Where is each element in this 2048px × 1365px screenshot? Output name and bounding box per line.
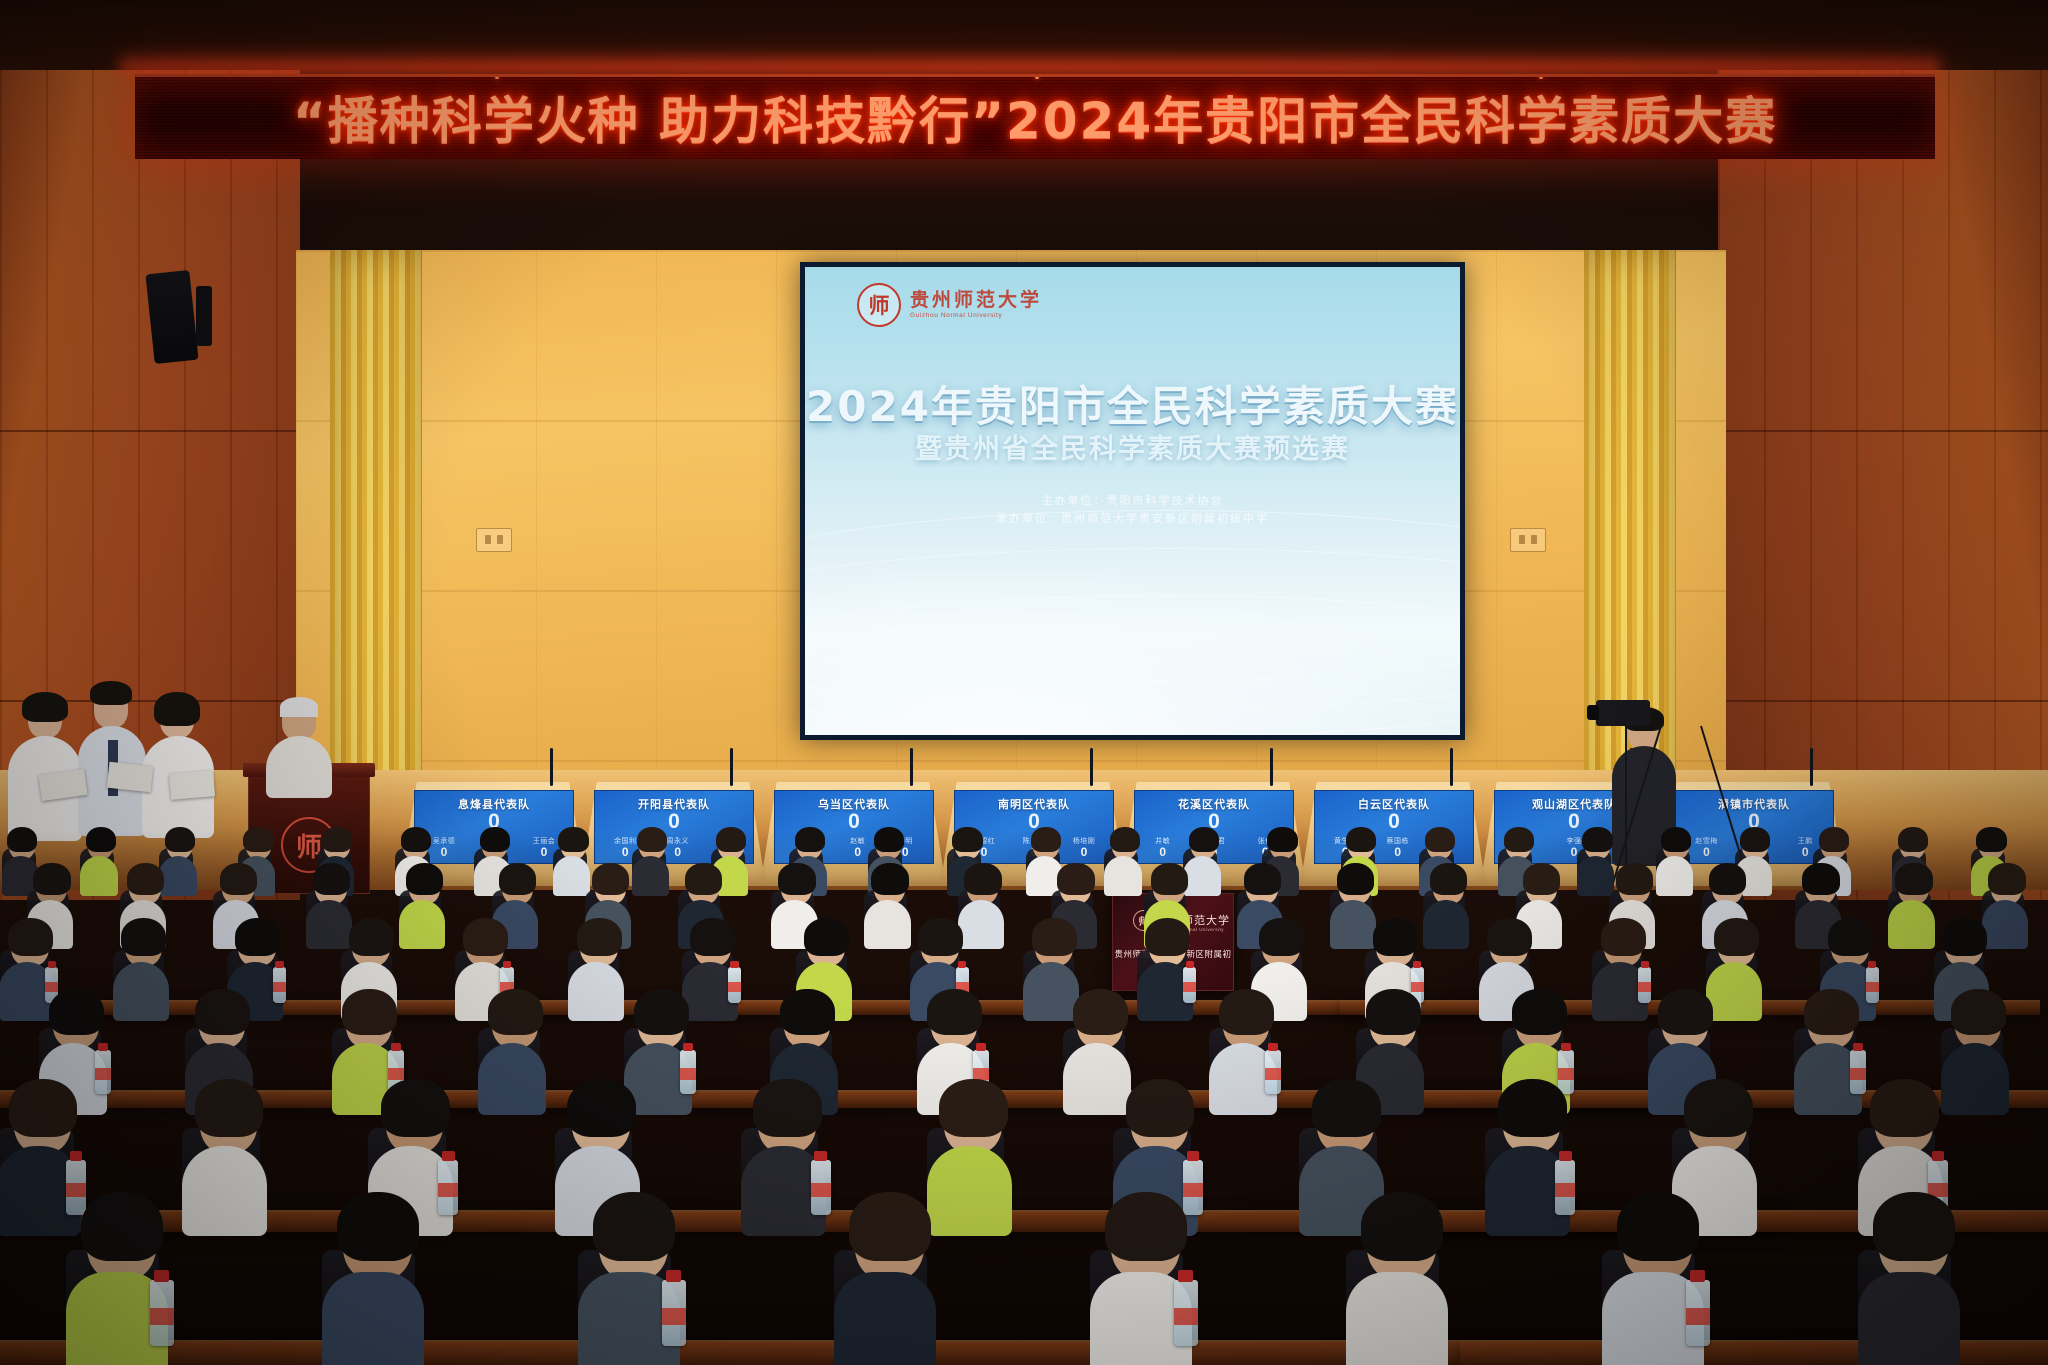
water-bottle <box>1174 1280 1198 1346</box>
water-bottle <box>1265 1050 1281 1094</box>
projection-screen: 师 贵州师范大学 Guizhou Normal University 2024年… <box>800 262 1465 740</box>
microphone-icon <box>730 748 733 786</box>
university-name-cn: 贵州师范大学 <box>910 291 1042 310</box>
university-seal-icon: 师 <box>857 283 901 327</box>
microphone-icon <box>1450 748 1453 786</box>
speaker-bracket <box>196 286 212 346</box>
microphone-icon <box>910 748 913 786</box>
water-bottle <box>150 1280 174 1346</box>
wall-outlet <box>1510 528 1546 552</box>
water-bottle <box>1850 1050 1866 1094</box>
wall-seam <box>0 430 300 432</box>
water-bottle <box>728 967 741 1003</box>
led-banner-text: “播种科学火种 助力科技黔行”2024年贵阳市全民科学素质大赛 <box>135 81 1935 153</box>
held-paper <box>169 770 215 800</box>
screen-university-logo: 师 贵州师范大学 Guizhou Normal University <box>857 283 1042 327</box>
water-bottle <box>662 1280 686 1346</box>
screen-subtitle: 暨贵州省全民科学素质大赛预选赛 <box>805 427 1460 466</box>
organizer-line-1: 主办单位：贵阳市科学技术协会 <box>805 492 1460 510</box>
organizer-line-2: 承办单位：贵州师范大学贵安新区附属初级中学 <box>805 510 1460 528</box>
video-camera-icon <box>1596 700 1650 726</box>
water-bottle <box>1183 1160 1203 1215</box>
water-bottle <box>1558 1050 1574 1094</box>
water-bottle <box>438 1160 458 1215</box>
water-bottle <box>273 967 286 1003</box>
led-banner: “播种科学火种 助力科技黔行”2024年贵阳市全民科学素质大赛 <box>135 74 1935 159</box>
led-banner-glow <box>120 52 1940 74</box>
university-name-en: Guizhou Normal University <box>910 313 1042 320</box>
line-array-speaker <box>145 270 198 364</box>
water-bottle <box>811 1160 831 1215</box>
microphone-icon <box>1810 748 1813 786</box>
water-bottle <box>1638 967 1651 1003</box>
water-bottle <box>1686 1280 1710 1346</box>
stage-curtain-left <box>330 250 422 810</box>
wall-seam <box>1718 430 2048 432</box>
wall-outlet <box>476 528 512 552</box>
microphone-icon <box>1270 748 1273 786</box>
held-paper <box>107 762 153 792</box>
water-bottle <box>66 1160 86 1215</box>
auditorium-photo: “播种科学火种 助力科技黔行”2024年贵阳市全民科学素质大赛 师 贵州师范大学… <box>0 0 2048 1365</box>
microphone-icon <box>1090 748 1093 786</box>
water-bottle <box>1555 1160 1575 1215</box>
screen-organizers: 主办单位：贵阳市科学技术协会 承办单位：贵州师范大学贵安新区附属初级中学 <box>805 492 1460 528</box>
audience-desk <box>1460 1340 2048 1365</box>
water-bottle <box>1183 967 1196 1003</box>
water-bottle <box>1866 967 1879 1003</box>
microphone-icon <box>550 748 553 786</box>
wall-seam <box>1718 700 2048 702</box>
screen-title: 2024年贵阳市全民科学素质大赛 <box>805 373 1460 434</box>
water-bottle <box>680 1050 696 1094</box>
water-bottle <box>95 1050 111 1094</box>
